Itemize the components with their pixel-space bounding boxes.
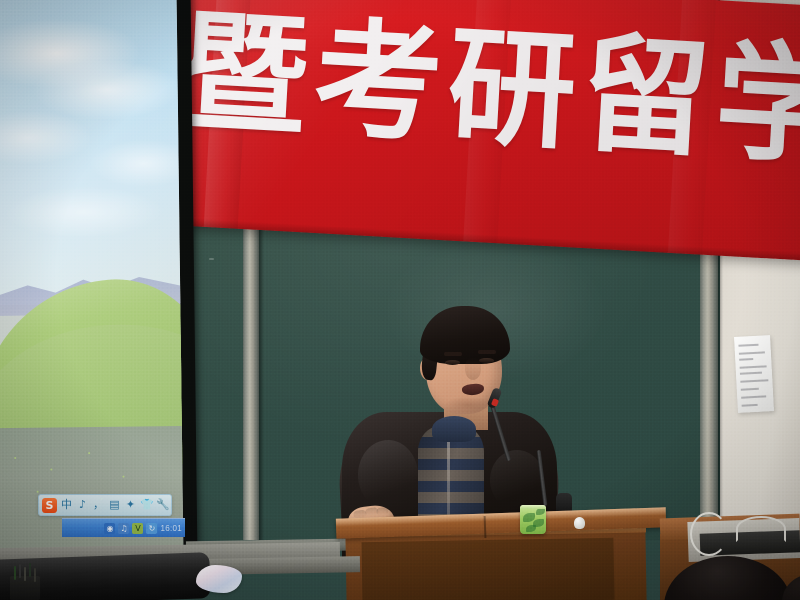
eye-right: [479, 358, 494, 363]
nose: [465, 358, 481, 380]
halfwidth-moon-icon[interactable]: ♪: [76, 498, 89, 512]
sogou-ime-toolbar[interactable]: S 中 ♪ ， ▤ ✦ 👕 🔧: [38, 494, 172, 516]
eye-left: [445, 360, 460, 365]
sweater-collar: [432, 416, 476, 442]
projection-screen-frame: [0, 0, 197, 561]
wall-notice-paper: [734, 335, 774, 413]
refresh-icon[interactable]: ↻: [146, 523, 157, 534]
podium-front-panel: [361, 538, 614, 600]
hair: [420, 306, 510, 364]
volume-icon[interactable]: ♫: [118, 523, 129, 534]
chinese-mode-icon[interactable]: 中: [60, 498, 73, 512]
windows-taskbar[interactable]: ◉ ♫ V ↻ 16:01: [62, 518, 185, 537]
white-cable-loop: [690, 512, 728, 556]
white-cable-arc: [736, 516, 786, 542]
sogou-logo-icon[interactable]: S: [42, 498, 57, 513]
wrench-icon[interactable]: 🔧: [156, 498, 169, 512]
small-white-object: [574, 517, 585, 529]
photograph-scene: 暨考研留学动员会 S 中 ♪ ， ▤: [0, 0, 800, 600]
wallpaper-sky: [0, 0, 180, 305]
menu-icon[interactable]: ▤: [108, 498, 121, 512]
toolbox-icon[interactable]: ✦: [124, 498, 137, 512]
event-banner: 暨考研留学动员会: [164, 0, 800, 261]
network-icon[interactable]: ◉: [104, 523, 115, 534]
banner-text: 暨考研留学动员会: [177, 8, 800, 196]
green-patterned-cup: [520, 505, 546, 534]
skin-shirt-icon[interactable]: 👕: [140, 498, 153, 512]
crumpled-tissue: [196, 565, 242, 593]
antivirus-icon[interactable]: V: [132, 523, 143, 534]
taskbar-clock: 16:01: [160, 524, 182, 533]
projection-screen-surface: [0, 0, 183, 551]
punctuation-icon[interactable]: ，: [92, 498, 105, 512]
pen-holder: [10, 576, 40, 600]
